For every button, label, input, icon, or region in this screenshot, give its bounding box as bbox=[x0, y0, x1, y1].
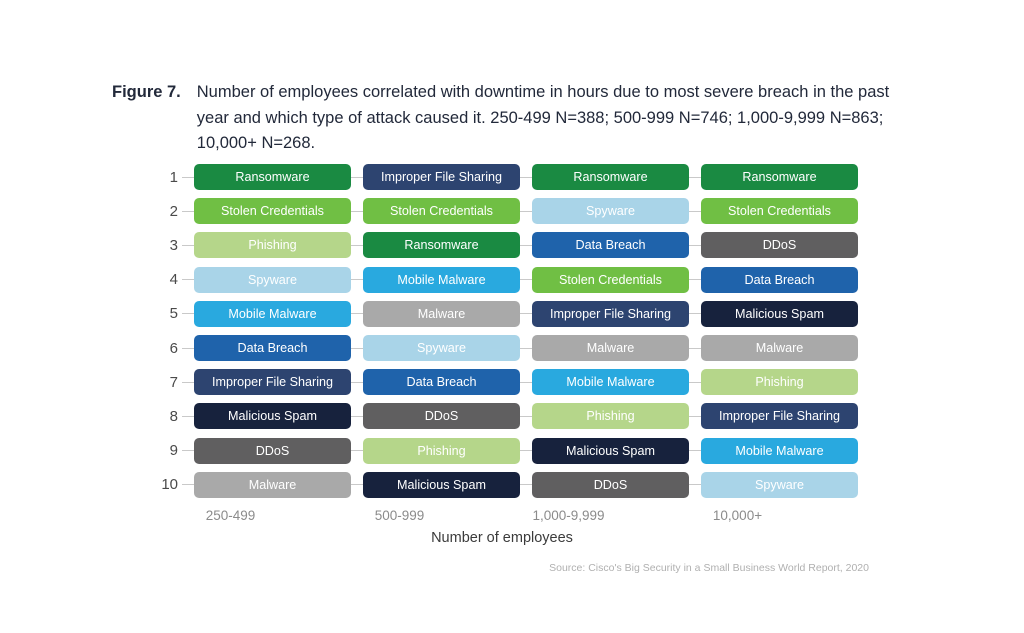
attack-type-bar: Data Breach bbox=[701, 267, 858, 293]
column-connector-tick bbox=[351, 177, 363, 178]
attack-type-bar: DDoS bbox=[701, 232, 858, 258]
column-connector-tick bbox=[689, 245, 701, 246]
chart-row-cells: Stolen CredentialsStolen CredentialsSpyw… bbox=[194, 198, 912, 224]
row-tick-mark bbox=[182, 416, 194, 417]
x-axis-tick-label: 500-999 bbox=[321, 508, 478, 523]
chart-row-cells: Improper File SharingData BreachMobile M… bbox=[194, 369, 912, 395]
attack-type-bar: Phishing bbox=[701, 369, 858, 395]
row-rank-label: 3 bbox=[152, 237, 182, 254]
attack-type-bar: Spyware bbox=[363, 335, 520, 361]
column-connector-tick bbox=[351, 348, 363, 349]
row-rank-label: 4 bbox=[152, 271, 182, 288]
attack-type-bar: Improper File Sharing bbox=[194, 369, 351, 395]
attack-type-bar: Data Breach bbox=[363, 369, 520, 395]
column-connector-tick bbox=[520, 416, 532, 417]
attack-type-bar: Malware bbox=[701, 335, 858, 361]
x-axis-tick-labels: 250-499500-9991,000-9,99910,000+ bbox=[152, 508, 912, 523]
attack-type-bar: Improper File Sharing bbox=[532, 301, 689, 327]
x-tick-gap bbox=[478, 508, 490, 523]
figure-caption: Figure 7. Number of employees correlated… bbox=[112, 80, 902, 157]
attack-type-bar: Mobile Malware bbox=[363, 267, 520, 293]
attack-type-bar: Stolen Credentials bbox=[363, 198, 520, 224]
column-connector-tick bbox=[520, 484, 532, 485]
chart-row-cells: Mobile MalwareMalwareImproper File Shari… bbox=[194, 301, 912, 327]
row-tick-mark bbox=[182, 313, 194, 314]
row-tick-mark bbox=[182, 177, 194, 178]
attack-type-bar: Stolen Credentials bbox=[701, 198, 858, 224]
attack-type-bar: DDoS bbox=[194, 438, 351, 464]
row-tick-mark bbox=[182, 245, 194, 246]
column-connector-tick bbox=[351, 211, 363, 212]
attack-type-bar: Phishing bbox=[194, 232, 351, 258]
column-connector-tick bbox=[520, 211, 532, 212]
x-tick-gap bbox=[309, 508, 321, 523]
column-connector-tick bbox=[689, 450, 701, 451]
attack-type-bar: Mobile Malware bbox=[532, 369, 689, 395]
column-connector-tick bbox=[520, 279, 532, 280]
attack-type-bar: DDoS bbox=[532, 472, 689, 498]
x-tick-gap bbox=[647, 508, 659, 523]
column-connector-tick bbox=[351, 313, 363, 314]
column-connector-tick bbox=[689, 348, 701, 349]
chart-row: 1RansomwareImproper File SharingRansomwa… bbox=[152, 160, 912, 194]
attack-type-bar: Data Breach bbox=[194, 335, 351, 361]
attack-type-bar: Malicious Spam bbox=[532, 438, 689, 464]
attack-type-bar: Malware bbox=[532, 335, 689, 361]
column-connector-tick bbox=[520, 382, 532, 383]
row-rank-label: 10 bbox=[152, 476, 182, 493]
chart-row: 10MalwareMalicious SpamDDoSSpyware bbox=[152, 468, 912, 502]
attack-type-bar: Spyware bbox=[701, 472, 858, 498]
row-tick-mark bbox=[182, 279, 194, 280]
chart-row-cells: Data BreachSpywareMalwareMalware bbox=[194, 335, 912, 361]
column-connector-tick bbox=[351, 382, 363, 383]
column-connector-tick bbox=[689, 279, 701, 280]
column-connector-tick bbox=[351, 484, 363, 485]
attack-type-bar: Ransomware bbox=[363, 232, 520, 258]
column-connector-tick bbox=[520, 245, 532, 246]
column-connector-tick bbox=[520, 450, 532, 451]
column-connector-tick bbox=[689, 177, 701, 178]
attack-type-bar: Improper File Sharing bbox=[701, 403, 858, 429]
chart-row-cells: RansomwareImproper File SharingRansomwar… bbox=[194, 164, 912, 190]
column-connector-tick bbox=[351, 245, 363, 246]
row-rank-label: 8 bbox=[152, 408, 182, 425]
attack-type-bar: Ransomware bbox=[194, 164, 351, 190]
row-rank-label: 9 bbox=[152, 442, 182, 459]
column-connector-tick bbox=[689, 484, 701, 485]
attack-type-bar: Mobile Malware bbox=[194, 301, 351, 327]
chart-row-cells: MalwareMalicious SpamDDoSSpyware bbox=[194, 472, 912, 498]
row-tick-mark bbox=[182, 382, 194, 383]
chart-row-cells: PhishingRansomwareData BreachDDoS bbox=[194, 232, 912, 258]
row-rank-label: 7 bbox=[152, 374, 182, 391]
column-connector-tick bbox=[689, 382, 701, 383]
x-axis-tick-label: 10,000+ bbox=[659, 508, 816, 523]
chart-row: 2Stolen CredentialsStolen CredentialsSpy… bbox=[152, 194, 912, 228]
column-connector-tick bbox=[351, 416, 363, 417]
source-note: Source: Cisco's Big Security in a Small … bbox=[549, 562, 869, 574]
attack-type-bar: Stolen Credentials bbox=[194, 198, 351, 224]
attack-type-bar: Ransomware bbox=[701, 164, 858, 190]
column-connector-tick bbox=[351, 450, 363, 451]
row-tick-mark bbox=[182, 450, 194, 451]
attack-type-bar: Malware bbox=[194, 472, 351, 498]
attack-type-bar: Stolen Credentials bbox=[532, 267, 689, 293]
attack-type-bar: Ransomware bbox=[532, 164, 689, 190]
chart-row-cells: SpywareMobile MalwareStolen CredentialsD… bbox=[194, 267, 912, 293]
attack-type-bar: Malware bbox=[363, 301, 520, 327]
chart-row: 7Improper File SharingData BreachMobile … bbox=[152, 365, 912, 399]
chart-row: 5Mobile MalwareMalwareImproper File Shar… bbox=[152, 297, 912, 331]
attack-type-bar: Improper File Sharing bbox=[363, 164, 520, 190]
figure-number: Figure 7. bbox=[112, 80, 181, 106]
attack-type-bar: Spyware bbox=[532, 198, 689, 224]
attack-type-bar: Mobile Malware bbox=[701, 438, 858, 464]
column-connector-tick bbox=[520, 348, 532, 349]
attack-type-bar: Malicious Spam bbox=[701, 301, 858, 327]
row-tick-mark bbox=[182, 484, 194, 485]
column-connector-tick bbox=[520, 177, 532, 178]
attack-type-bar: Spyware bbox=[194, 267, 351, 293]
row-tick-mark bbox=[182, 211, 194, 212]
chart-row-cells: DDoSPhishingMalicious SpamMobile Malware bbox=[194, 438, 912, 464]
attack-type-bar: Phishing bbox=[532, 403, 689, 429]
x-axis-title: Number of employees bbox=[152, 530, 852, 546]
row-tick-mark bbox=[182, 348, 194, 349]
row-rank-label: 5 bbox=[152, 305, 182, 322]
chart-row: 3PhishingRansomwareData BreachDDoS bbox=[152, 228, 912, 262]
chart-row: 4SpywareMobile MalwareStolen Credentials… bbox=[152, 263, 912, 297]
column-connector-tick bbox=[689, 416, 701, 417]
chart-row: 9DDoSPhishingMalicious SpamMobile Malwar… bbox=[152, 434, 912, 468]
column-connector-tick bbox=[689, 313, 701, 314]
chart-row: 6Data BreachSpywareMalwareMalware bbox=[152, 331, 912, 365]
column-connector-tick bbox=[520, 313, 532, 314]
chart-plot-area: Breaches most likely to cause > 24 hr ou… bbox=[112, 160, 912, 510]
row-rank-label: 1 bbox=[152, 169, 182, 186]
column-connector-tick bbox=[689, 211, 701, 212]
attack-type-bar: Malicious Spam bbox=[363, 472, 520, 498]
column-connector-tick bbox=[351, 279, 363, 280]
chart-row-cells: Malicious SpamDDoSPhishingImproper File … bbox=[194, 403, 912, 429]
chart-grid: 1RansomwareImproper File SharingRansomwa… bbox=[152, 160, 912, 510]
figure-title: Number of employees correlated with down… bbox=[197, 80, 902, 157]
x-axis-tick-label: 1,000-9,999 bbox=[490, 508, 647, 523]
attack-type-bar: Malicious Spam bbox=[194, 403, 351, 429]
attack-type-bar: DDoS bbox=[363, 403, 520, 429]
attack-type-bar: Data Breach bbox=[532, 232, 689, 258]
attack-type-bar: Phishing bbox=[363, 438, 520, 464]
chart-row: 8Malicious SpamDDoSPhishingImproper File… bbox=[152, 399, 912, 433]
row-rank-label: 2 bbox=[152, 203, 182, 220]
x-axis-tick-label: 250-499 bbox=[152, 508, 309, 523]
row-rank-label: 6 bbox=[152, 340, 182, 357]
